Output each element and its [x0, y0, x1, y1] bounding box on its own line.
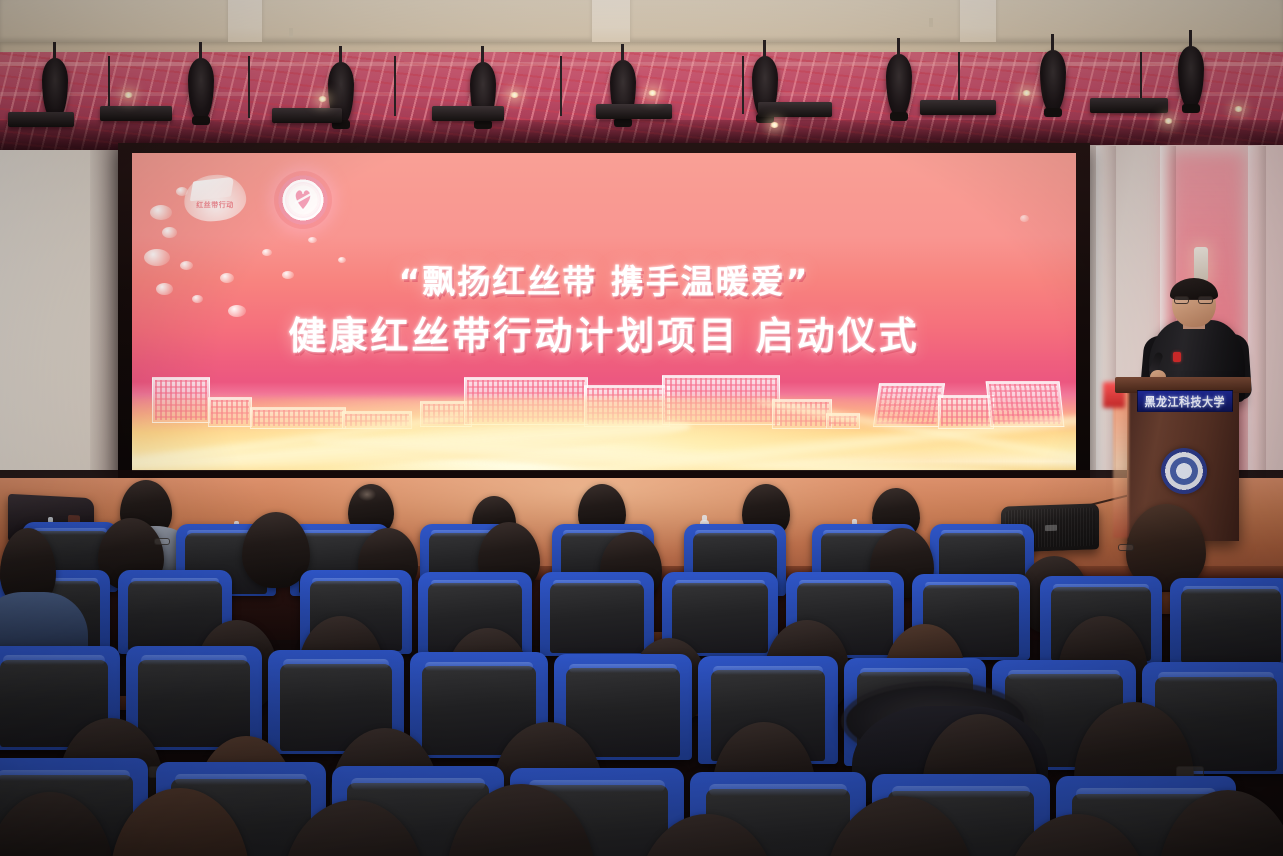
ceiling-coffer [0, 0, 228, 42]
ceiling-coffer [262, 0, 592, 42]
ceiling-downlight [648, 90, 657, 96]
screen-title-line-1: “飘扬红丝带 携手温暖爱” [132, 255, 1076, 303]
wall-sconce-light [1194, 247, 1208, 281]
glasses-bridge [1189, 299, 1198, 300]
bokeh-bubble [1020, 215, 1029, 222]
glasses-icon [1174, 296, 1214, 304]
moving-head-light [1178, 46, 1204, 108]
audience-area [0, 470, 1283, 856]
screen-title-line-2: 健康红丝带行动计划项目 启动仪式 [132, 305, 1076, 360]
moving-head-light [42, 58, 68, 120]
logo-badge-text: 红丝带行动 [190, 200, 240, 210]
sprinkler-icon [289, 28, 293, 37]
truss-bar-light [272, 108, 342, 123]
sprinkler-icon [929, 18, 933, 27]
truss-bar-light [596, 104, 672, 119]
glasses-left-lens [1174, 296, 1189, 304]
truss-rod [248, 56, 250, 118]
ceiling-downlight [770, 122, 779, 128]
ceiling-downlight [1022, 90, 1031, 96]
truss-rod [394, 56, 396, 116]
glasses-right-lens [1198, 296, 1213, 304]
heart-ribbon-svg [292, 186, 314, 212]
ceiling-downlight [124, 92, 133, 98]
ceiling-coffer [630, 0, 960, 42]
glasses-icon [1118, 544, 1134, 551]
bokeh-bubble [308, 237, 317, 243]
auditorium-scene: 红丝带行动 [0, 0, 1283, 856]
circular-heart-emblem-logo [274, 171, 332, 229]
auditorium-seat [126, 646, 262, 750]
truss-bar-light [8, 112, 74, 127]
ceiling-downlight [1234, 106, 1243, 112]
truss-rod [108, 56, 110, 112]
ceiling-downlight [510, 92, 519, 98]
truss-rod [560, 56, 562, 116]
truss-bar-light [1090, 98, 1168, 113]
auditorium-seat [1170, 578, 1283, 666]
led-screen-frame: 红丝带行动 [118, 143, 1090, 484]
truss-rod [742, 56, 744, 114]
truss-bar-light [100, 106, 172, 121]
ceiling [0, 0, 1283, 152]
podium-led-banner-text: 黑龙江科技大学 [1145, 393, 1226, 410]
glasses-icon [154, 538, 170, 545]
heart-ribbon-icon [292, 186, 314, 212]
red-ribbon-flag-logo: 红丝带行动 [184, 175, 246, 221]
truss-bar-light [920, 100, 996, 115]
moving-head-light [188, 58, 214, 120]
bokeh-bubble [150, 205, 172, 220]
led-screen: 红丝带行动 [132, 153, 1076, 471]
truss-bar-light [432, 106, 504, 121]
ceiling-downlight [1164, 118, 1173, 124]
bokeh-bubble [162, 227, 177, 238]
podium-led-banner: 黑龙江科技大学 [1137, 390, 1233, 412]
ceiling-downlight [318, 96, 327, 102]
ceiling-coffer [996, 0, 1283, 42]
moving-head-light [1040, 50, 1066, 112]
truss-bar-light [758, 102, 832, 117]
red-ribbon-lapel-pin-icon [1173, 352, 1181, 362]
auditorium-seat [540, 572, 654, 656]
moving-head-light [886, 54, 912, 116]
